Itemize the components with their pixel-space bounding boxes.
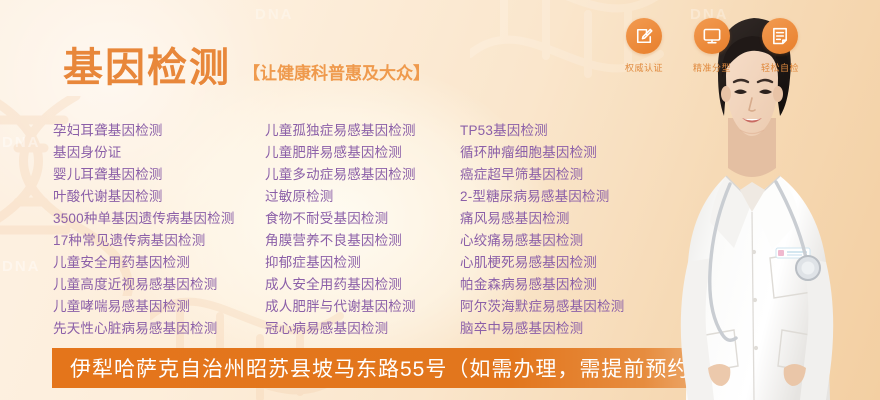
list-item[interactable]: 角膜营养不良基因检测 [265, 230, 460, 252]
list-item[interactable]: 过敏原检测 [265, 186, 460, 208]
list-item[interactable]: 癌症超早筛基因检测 [460, 164, 690, 186]
list-item[interactable]: 成人肥胖与代谢基因检测 [265, 296, 460, 318]
gene-testing-banner: DNA DNA DNA DNA 基因检测 【让健康科普惠及大众】 权威认证 [0, 0, 880, 400]
list-item[interactable]: 2-型糖尿病易感基因检测 [460, 186, 690, 208]
list-item[interactable]: 帕金森病易感基因检测 [460, 274, 690, 296]
list-item[interactable]: 食物不耐受基因检测 [265, 208, 460, 230]
service-column-3: TP53基因检测 循环肿瘤细胞基因检测 癌症超早筛基因检测 2-型糖尿病易感基因… [460, 120, 690, 340]
page-title: 基因检测 [63, 48, 231, 88]
list-item[interactable]: 儿童肥胖易感基因检测 [265, 142, 460, 164]
list-item[interactable]: 儿童哮喘易感基因检测 [53, 296, 265, 318]
list-item[interactable]: 17种常见遗传病基因检测 [53, 230, 265, 252]
edit-document-icon [634, 26, 654, 46]
badge-label: 精准分型 [693, 61, 731, 74]
report-icon [770, 26, 790, 46]
list-item[interactable]: 婴儿耳聋基因检测 [53, 164, 265, 186]
address-bar: 伊犁哈萨克自治州昭苏县坡马东路55号（如需办理，需提前预约） [52, 348, 792, 388]
list-item[interactable]: 叶酸代谢基因检测 [53, 186, 265, 208]
list-item[interactable]: 先天性心脏病易感基因检测 [53, 318, 265, 340]
list-item[interactable]: 脑卒中易感基因检测 [460, 318, 690, 340]
monitor-icon [702, 26, 722, 46]
list-item[interactable]: 3500种单基因遗传病基因检测 [53, 208, 265, 230]
watermark-text: DNA [2, 134, 41, 151]
badge-icon-circle [626, 18, 662, 54]
list-item[interactable]: 儿童多动症易感基因检测 [265, 164, 460, 186]
list-item[interactable]: 心绞痛易感基因检测 [460, 230, 690, 252]
list-item[interactable]: 抑郁症基因检测 [265, 252, 460, 274]
list-item[interactable]: 循环肿瘤细胞基因检测 [460, 142, 690, 164]
list-item[interactable]: 心肌梗死易感基因检测 [460, 252, 690, 274]
feature-badge-group: 权威认证 精准分型 轻松自检 [618, 18, 806, 74]
badge-easy-self-test[interactable]: 轻松自检 [754, 18, 806, 74]
service-column-2: 儿童孤独症易感基因检测 儿童肥胖易感基因检测 儿童多动症易感基因检测 过敏原检测… [265, 120, 460, 340]
address-text: 伊犁哈萨克自治州昭苏县坡马东路55号（如需办理，需提前预约） [52, 353, 711, 383]
list-item[interactable]: TP53基因检测 [460, 120, 690, 142]
list-item[interactable]: 成人安全用药基因检测 [265, 274, 460, 296]
badge-icon-circle [694, 18, 730, 54]
watermark-text: DNA [2, 258, 41, 275]
list-item[interactable]: 儿童高度近视易感基因检测 [53, 274, 265, 296]
list-item[interactable]: 孕妇耳聋基因检测 [53, 120, 265, 142]
list-item[interactable]: 冠心病易感基因检测 [265, 318, 460, 340]
service-column-1: 孕妇耳聋基因检测 基因身份证 婴儿耳聋基因检测 叶酸代谢基因检测 3500种单基… [53, 120, 265, 340]
list-item[interactable]: 儿童安全用药基因检测 [53, 252, 265, 274]
page-subtitle: 【让健康科普惠及大众】 [243, 59, 430, 88]
watermark-text: DNA [255, 6, 294, 23]
badge-label: 轻松自检 [761, 61, 799, 74]
list-item[interactable]: 阿尔茨海默症易感基因检测 [460, 296, 690, 318]
service-list: 孕妇耳聋基因检测 基因身份证 婴儿耳聋基因检测 叶酸代谢基因检测 3500种单基… [53, 120, 690, 340]
badge-precise-typing[interactable]: 精准分型 [686, 18, 738, 74]
badge-label: 权威认证 [625, 61, 663, 74]
list-item[interactable]: 痛风易感基因检测 [460, 208, 690, 230]
heading-row: 基因检测 【让健康科普惠及大众】 [63, 48, 430, 88]
list-item[interactable]: 儿童孤独症易感基因检测 [265, 120, 460, 142]
badge-authority-certification[interactable]: 权威认证 [618, 18, 670, 74]
list-item[interactable]: 基因身份证 [53, 142, 265, 164]
badge-icon-circle [762, 18, 798, 54]
